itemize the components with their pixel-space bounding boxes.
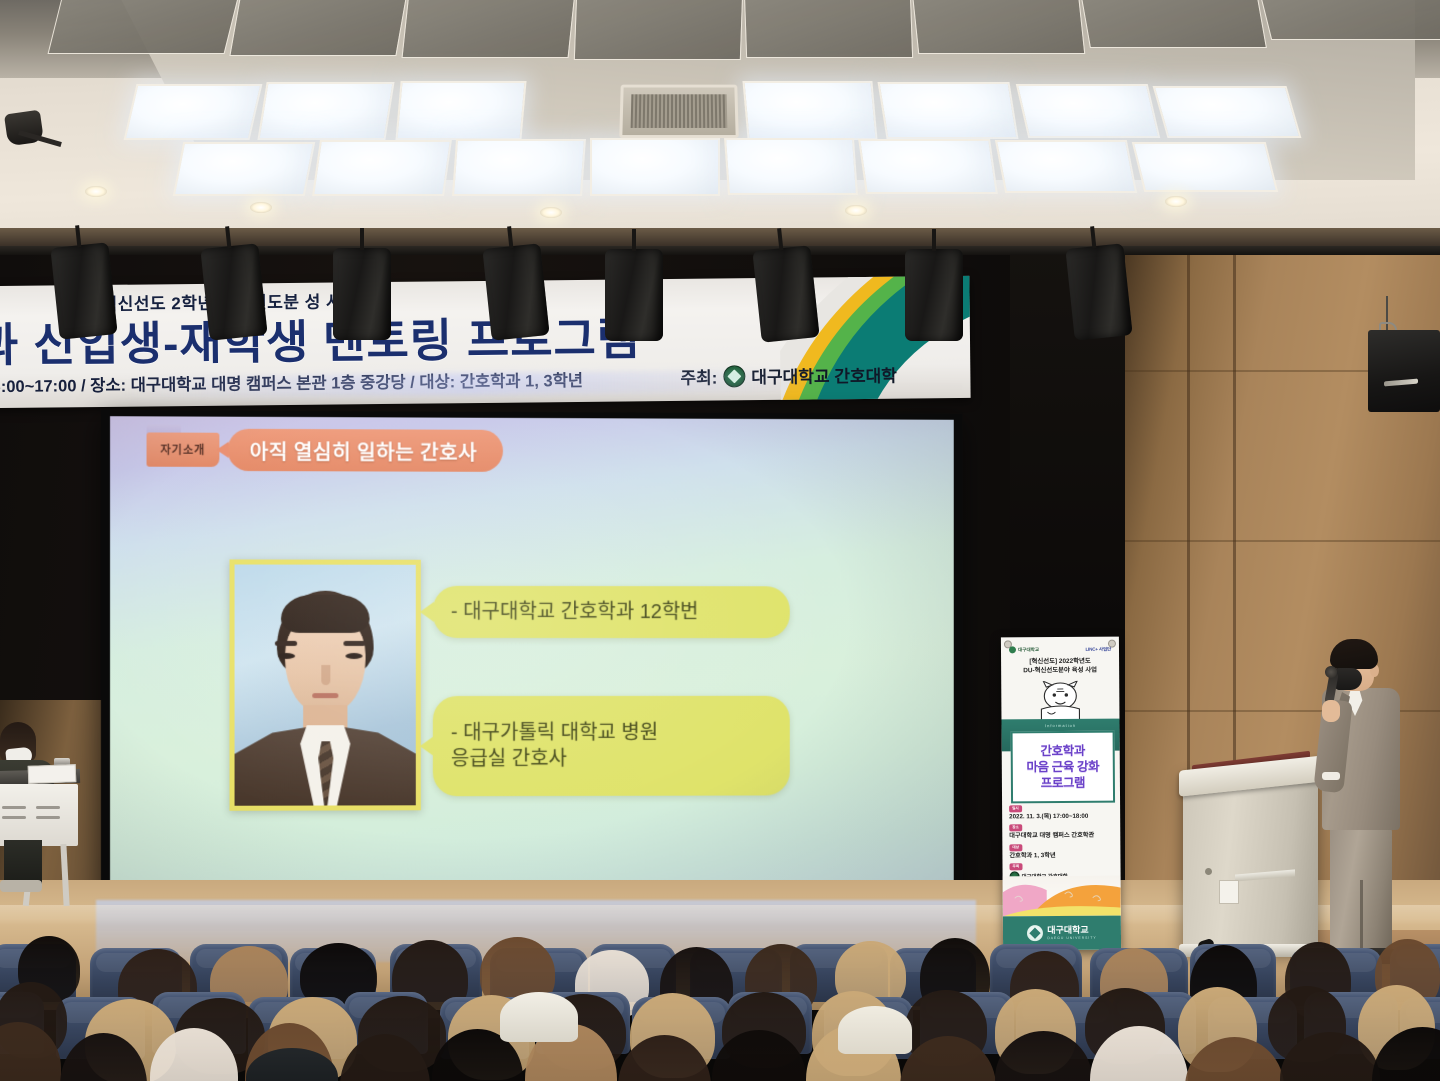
daegu-university-seal-icon [723,365,745,387]
meta-value: 2022. 11. 3.(목) 17:00~18:00 [1009,813,1113,821]
portrait-brow [343,641,365,646]
portrait-eye [278,653,295,659]
meta-row: 장소 대구대학교 대명 캠퍼스 간호학관 [1009,824,1113,840]
x-banner-logo-left-text: 대구대학교 [1018,647,1039,653]
downlight [1165,196,1187,207]
portrait-brow [275,641,297,646]
audience-cap [500,992,578,1042]
meta-value: 간호학과 1, 3학년 [1009,852,1113,860]
ceiling-light-panel [1016,84,1160,138]
name-card [28,764,77,784]
table-vent [2,816,26,819]
ceiling-pane [48,0,240,54]
ceiling-light-panel [395,81,526,140]
x-banner-title-box: 간호학과 마음 근육 강화 프로그램 [1011,731,1116,804]
ceiling-ac-unit [619,85,738,138]
table-front-panel [0,784,78,846]
ceiling-pane [229,0,407,56]
portrait-fringe [281,595,370,633]
ceiling-pane [1259,0,1440,40]
speaker-cuff [1322,772,1340,780]
ceiling-light-panel [257,82,394,140]
meta-row: 대상 간호학과 1, 3학년 [1009,844,1113,860]
ceiling-light-panel [452,139,586,196]
x-banner-project-line: [혁신선도] 2022학년도 DU-혁신선도분야 육성 사업 [1001,657,1119,676]
auditorium-scene: 혁신선도 2학년도 신선도분 성 사업 과 신입생-재학생 멘토링 프로그램 1… [0,0,1440,1081]
speaker-badge [1384,379,1418,387]
banner-host: 주최: 대구대학교 간호대학 [680,362,897,389]
table-vent [2,806,26,809]
downlight [85,186,107,197]
stage-light [605,249,663,341]
slide-section-tab: 자기소개 [147,432,220,466]
seated-person-shoe [0,880,42,892]
meta-tag: 주최 [1009,864,1022,871]
stage-light [333,248,391,340]
projection-screen: 자기소개 아직 열심히 일하는 간호사 [110,416,954,901]
banner-subline: 16:00~17:00 / 장소: 대구대학교 대명 캠퍼스 본관 1층 중강당… [0,367,583,397]
ceiling-speaker-box [1368,330,1440,412]
main-event-banner: 혁신선도 2학년도 신선도분 성 사업 과 신입생-재학생 멘토링 프로그램 1… [0,276,971,408]
ceiling-light-panel [858,139,998,194]
ceiling-pane [1080,0,1267,48]
x-banner-title-line: 간호학과 [1040,744,1085,758]
x-banner-title-line: 마음 근육 강화 [1026,760,1099,775]
portrait-image [235,564,416,805]
stage-light [1065,243,1132,341]
meta-tag: 장소 [1009,825,1022,832]
ceiling-pane [402,0,576,58]
wood-seam [1125,540,1440,542]
ceiling-light-panel [124,84,263,140]
portrait-nose [321,665,330,685]
stage-light [905,249,963,341]
speaker-face-mask [1334,668,1362,690]
x-banner-info-label: Information [1002,723,1120,729]
stage-light [752,245,819,343]
x-banner-title-line: 프로그램 [1041,776,1086,790]
stage-light [50,242,117,340]
x-banner-meta: 일시 2022. 11. 3.(목) 17:00~18:00 장소 대구대학교 … [1009,805,1114,882]
podium [1183,772,1318,950]
ceiling-pane [574,0,743,60]
x-banner-logo-row: 대구대학교 LINC+ 사업단 [1009,644,1111,656]
projection-screen-frame: 자기소개 아직 열심히 일하는 간호사 [101,410,963,914]
daegu-university-logo: 대구대학교 [1009,646,1039,653]
slide-bullet-text: - 대구가톨릭 대학교 병원 응급실 간호사 [451,719,658,772]
speaker-hair [1330,639,1378,669]
audience-cap [838,1006,912,1054]
truss-shelf [0,228,1440,246]
speaker-hand [1322,700,1340,722]
banner-host-label: 주최: [680,364,717,389]
ceiling-light-panel [724,138,858,195]
podium-control-plate[interactable] [1219,880,1239,904]
x-banner-decorative-hills [1003,876,1121,917]
ceiling [0,0,1440,236]
downlight [845,205,867,216]
ceiling-light-panel [173,142,315,196]
stage-light [200,243,267,341]
meta-tag: 일시 [1009,805,1022,812]
university-emblem-icon [1009,646,1016,653]
slide-bullet-text: - 대구대학교 간호학과 12학번 [451,599,699,626]
ceiling-light-panel [877,82,1018,139]
ceiling-pane [912,0,1086,54]
slide-portrait-photo [229,559,420,810]
meta-tag: 대상 [1009,844,1022,851]
meta-value: 대구대학교 대명 캠퍼스 간호학관 [1009,832,1113,840]
downlight [250,202,272,213]
ceiling-camera-icon [4,110,44,147]
downlight [540,207,562,218]
portrait-mouth [312,693,338,698]
ceiling-pane [744,0,913,58]
stage-light [482,243,549,341]
portrait-eye [345,653,362,659]
standing-x-banner: 대구대학교 LINC+ 사업단 [혁신선도] 2022학년도 DU-혁신선도분야… [1001,637,1121,951]
ceiling-light-panel [312,140,452,196]
podium-knob[interactable] [1205,868,1212,875]
ceiling-light-panel [590,138,720,196]
ac-grill [631,94,728,128]
ceiling-light-panel [1132,142,1278,192]
table-vent [36,816,60,819]
ceiling-light-panel [995,140,1137,193]
meta-row: 일시 2022. 11. 3.(목) 17:00~18:00 [1009,805,1113,821]
x-banner-logo-right-text: LINC+ 사업단 [1085,646,1111,652]
slide-title-bubble: 아직 열심히 일하는 간호사 [227,429,503,472]
microphone-head-icon [1325,666,1337,678]
tiger-mascot-icon [1027,681,1093,721]
ceiling-light-panel [1153,86,1302,138]
slide-bullet-bubble: - 대구대학교 간호학과 12학번 [433,586,790,638]
banner-host-name: 대구대학교 간호대학 [751,362,897,389]
hills-graphic [1003,876,1121,917]
ceiling-light-panel [742,81,877,140]
audience-area [0,930,1440,1081]
table-vent [36,806,60,809]
slide-bullet-bubble: - 대구가톨릭 대학교 병원 응급실 간호사 [433,696,790,796]
